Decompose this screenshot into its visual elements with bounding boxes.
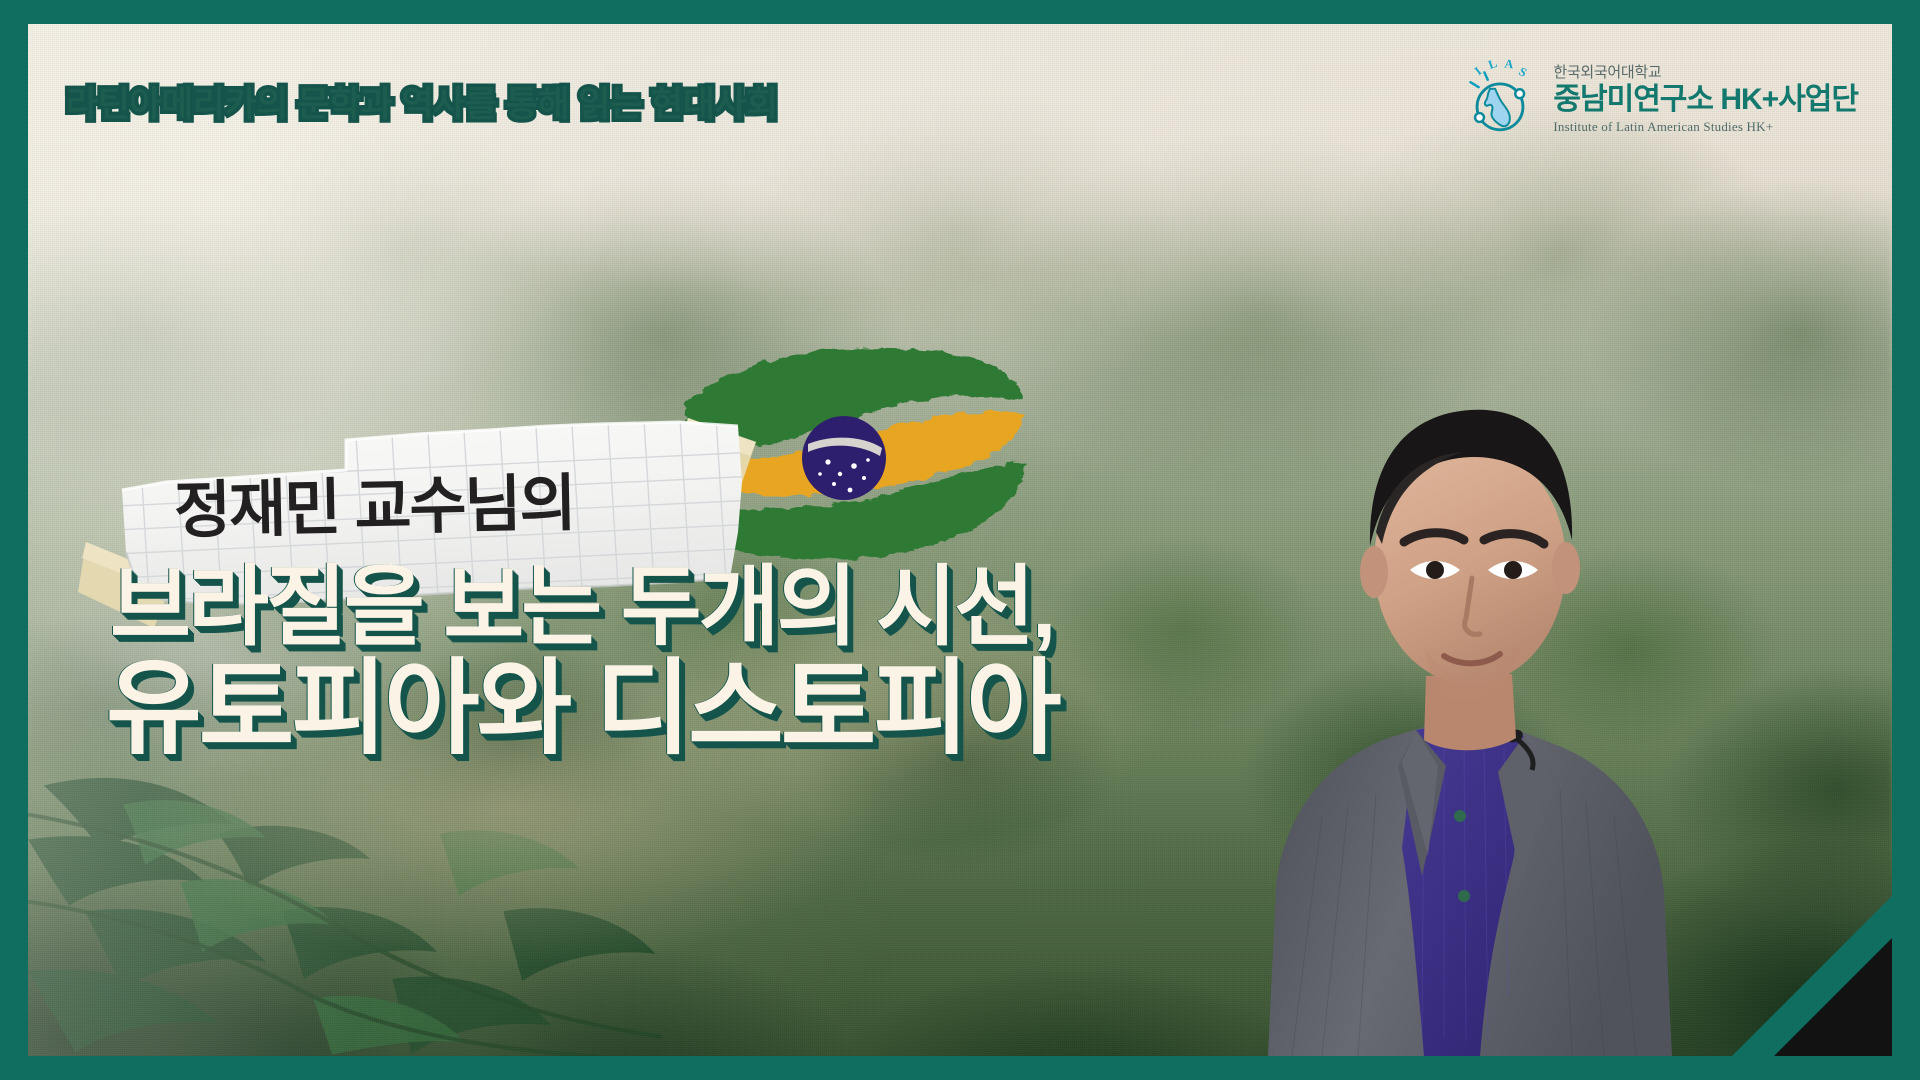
logo-institute-name: 중남미연구소 HK+사업단 xyxy=(1553,85,1858,115)
logo-institute-name-en: Institute of Latin American Studies HK+ xyxy=(1553,120,1858,133)
video-thumbnail: 라틴아메리카의 문학과 역사를 통해 읽는 현대사회 라틴아메리카의 문학과 역… xyxy=(0,0,1920,1080)
series-subtitle: 라틴아메리카의 문학과 역사를 통해 읽는 현대사회 xyxy=(66,76,778,127)
ilas-globe-icon: I L A S xyxy=(1459,56,1541,138)
main-title-line-1: 브라질을 보는 두개의 시선, xyxy=(110,562,1059,653)
svg-text:I: I xyxy=(1472,64,1485,78)
svg-text:S: S xyxy=(1517,64,1530,80)
ilas-logo-text: 한국외국어대학교 중남미연구소 HK+사업단 Institute of Lati… xyxy=(1553,61,1858,133)
svg-text:L: L xyxy=(1487,56,1499,72)
logo-university-name: 한국외국어대학교 xyxy=(1553,65,1858,80)
presenter-photo xyxy=(1172,296,1692,1056)
note-text: 정재민 교수님의 xyxy=(173,452,575,550)
svg-text:A: A xyxy=(1504,57,1514,72)
main-title-line-2: 유토피아와 디스토피아 xyxy=(106,655,1059,763)
thumbnail-frame-inner: 라틴아메리카의 문학과 역사를 통해 읽는 현대사회 라틴아메리카의 문학과 역… xyxy=(28,24,1892,1056)
main-title: 브라질을 보는 두개의 시선, 유토피아와 디스토피아 xyxy=(110,562,1059,763)
ilas-logo: I L A S 한국외국어대학교 중남미연구소 HK+사업단 Institute… xyxy=(1459,56,1858,138)
